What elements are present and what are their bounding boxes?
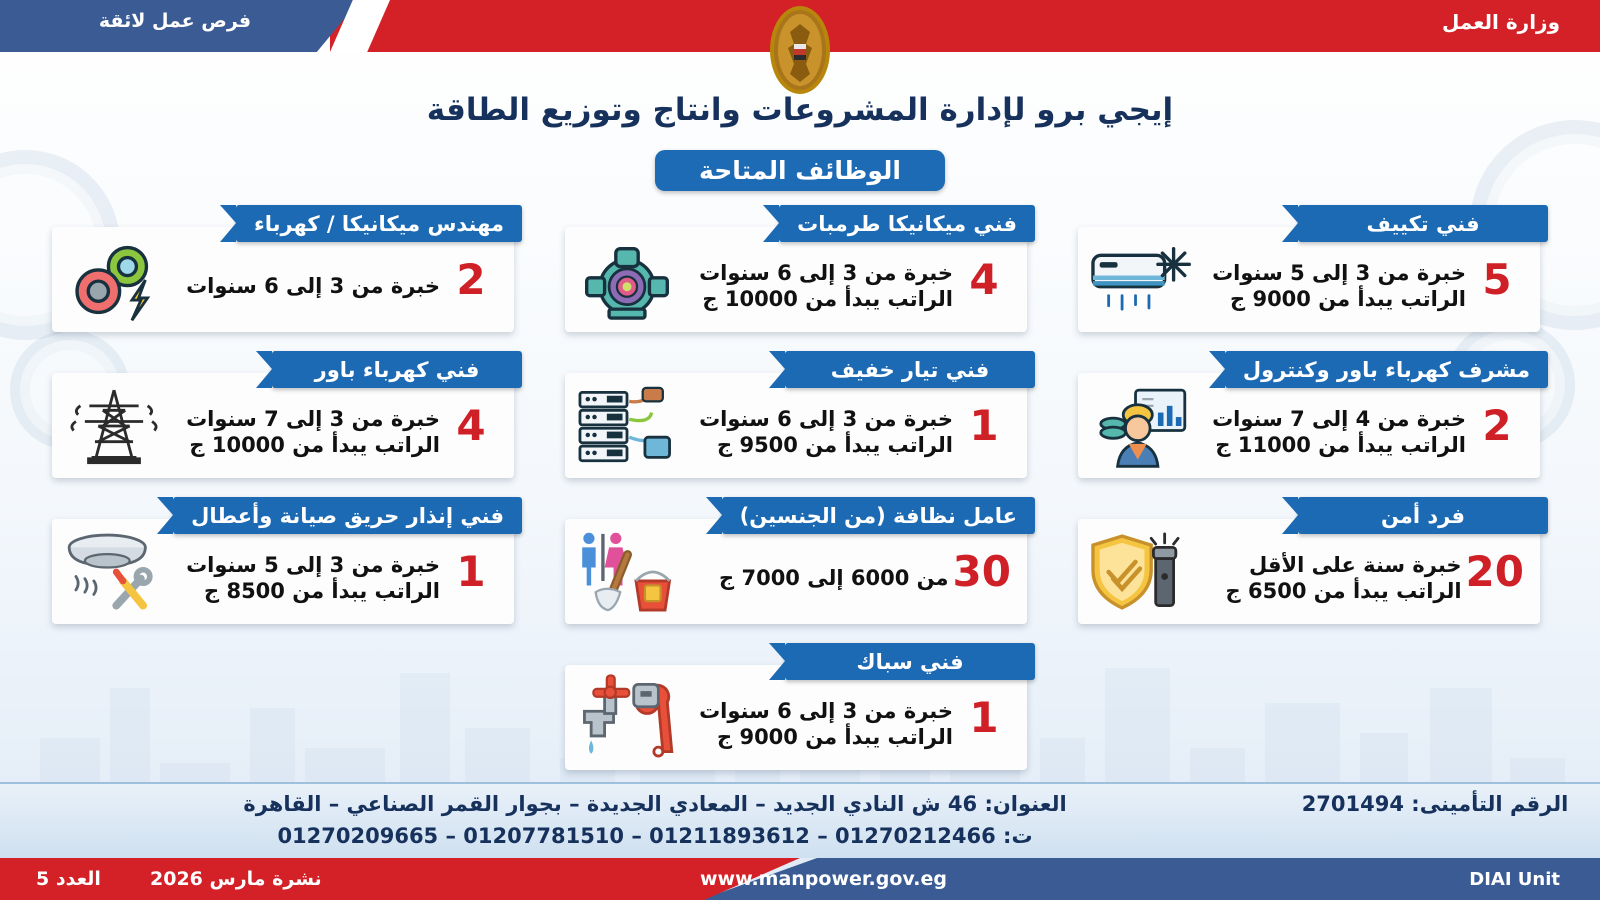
job-card[interactable]: عامل نظافة (من الجنسين) 30 من 6000 إلى 7… [565, 497, 1035, 627]
job-details: خبرة من 4 إلى 7 سنوات الراتب يبدأ من 110… [1196, 393, 1470, 458]
job-experience-line: من 6000 إلى 7000 ج [683, 566, 949, 592]
job-details: خبرة من 3 إلى 6 سنوات الراتب يبدأ من 950… [683, 393, 957, 458]
supervisor-engineer-icon [1084, 380, 1196, 472]
job-vacancy-count: 1 [444, 551, 498, 593]
contact-footer: العنوان: 46 ش النادي الجديد – المعادي ال… [0, 782, 1600, 858]
job-card[interactable]: فني إنذار حريق صيانة وأعطال 1 خبرة من 3 … [52, 497, 522, 627]
air-conditioner-icon [1084, 234, 1196, 326]
job-vacancy-count: 30 [953, 551, 1011, 593]
header-right-tag: وزارة العمل [1442, 10, 1560, 34]
water-pump-icon [571, 234, 683, 326]
job-vacancy-count: 4 [444, 405, 498, 447]
faucet-wrench-icon [571, 672, 683, 764]
header-left-tag: فرص عمل لائقة [60, 10, 290, 32]
job-details: خبرة من 3 إلى 6 سنوات الراتب يبدأ من 100… [683, 247, 957, 312]
jobs-grid: فني تكييف 5 خبرة من 3 إلى 5 سنوات الراتب… [52, 205, 1548, 789]
job-card-body: 4 خبرة من 3 إلى 6 سنوات الراتب يبدأ من 1… [565, 227, 1027, 332]
job-vacancy-count: 5 [1470, 259, 1524, 301]
issue-number: العدد 5 [36, 868, 101, 890]
job-title-ribbon: مهندس ميكانيكا / كهرباء [236, 205, 522, 242]
job-title-ribbon: فني تيار خفيف [785, 351, 1035, 388]
smoke-detector-tools-icon [58, 526, 170, 618]
job-title-ribbon: مشرف كهرباء باور وكنترول [1225, 351, 1548, 388]
job-salary-line: الراتب يبدأ من 9000 ج [683, 725, 953, 751]
job-card-body: 2 خبرة من 4 إلى 7 سنوات الراتب يبدأ من 1… [1078, 373, 1540, 478]
job-details: خبرة من 3 إلى 5 سنوات الراتب يبدأ من 900… [1196, 247, 1470, 312]
job-title-ribbon: فني تكييف [1298, 205, 1548, 242]
job-card-body: 1 خبرة من 3 إلى 6 سنوات الراتب يبدأ من 9… [565, 665, 1027, 770]
job-title-ribbon: فني سباك [785, 643, 1035, 680]
job-title-ribbon: فني إنذار حريق صيانة وأعطال [173, 497, 522, 534]
job-details: خبرة من 3 إلى 6 سنوات [170, 260, 444, 300]
bottom-bar: العدد 5 نشرة مارس 2026 www.manpower.gov.… [0, 858, 1600, 900]
jobs-row: مشرف كهرباء باور وكنترول 2 خبرة من 4 إلى… [52, 351, 1548, 481]
jobs-row: فني تكييف 5 خبرة من 3 إلى 5 سنوات الراتب… [52, 205, 1548, 335]
job-salary-line: الراتب يبدأ من 6500 ج [1196, 579, 1462, 605]
job-experience-line: خبرة من 4 إلى 7 سنوات [1196, 407, 1466, 433]
contact-phones: ت: 01270212466 – 01211893612 – 012077815… [0, 824, 1310, 848]
job-experience-line: خبرة من 3 إلى 5 سنوات [1196, 261, 1466, 287]
job-vacancy-count: 20 [1466, 551, 1524, 593]
job-card[interactable]: فني سباك 1 خبرة من 3 إلى 6 سنوات الراتب … [565, 643, 1035, 773]
job-card-body: 30 من 6000 إلى 7000 ج [565, 519, 1027, 624]
job-details: من 6000 إلى 7000 ج [683, 552, 953, 592]
job-card-body: 4 خبرة من 3 إلى 7 سنوات الراتب يبدأ من 1… [52, 373, 514, 478]
server-rack-icon [571, 380, 683, 472]
job-card-body: 1 خبرة من 3 إلى 5 سنوات الراتب يبدأ من 8… [52, 519, 514, 624]
job-vacancy-count: 2 [444, 259, 498, 301]
bottom-red-band [0, 858, 800, 900]
job-salary-line: الراتب يبدأ من 11000 ج [1196, 433, 1466, 459]
job-title-ribbon: فرد أمن [1298, 497, 1548, 534]
job-details: خبرة سنة على الأقل الراتب يبدأ من 6500 ج [1196, 539, 1466, 604]
job-title-ribbon: عامل نظافة (من الجنسين) [722, 497, 1035, 534]
job-experience-line: خبرة من 3 إلى 6 سنوات [683, 261, 953, 287]
job-card[interactable]: فني ميكانيكا طرمبات 4 خبرة من 3 إلى 6 سن… [565, 205, 1035, 335]
job-experience-line: خبرة سنة على الأقل [1196, 553, 1462, 579]
job-card-body: 2 خبرة من 3 إلى 6 سنوات [52, 227, 514, 332]
job-title-ribbon: فني كهرباء باور [272, 351, 522, 388]
job-salary-line: الراتب يبدأ من 8500 ج [170, 579, 440, 605]
job-experience-line: خبرة من 3 إلى 6 سنوات [170, 274, 440, 300]
job-salary-line: الراتب يبدأ من 9000 ج [1196, 287, 1466, 313]
job-card-body: 5 خبرة من 3 إلى 5 سنوات الراتب يبدأ من 9… [1078, 227, 1540, 332]
job-vacancy-count: 2 [1470, 405, 1524, 447]
contact-address: العنوان: 46 ش النادي الجديد – المعادي ال… [0, 792, 1310, 816]
job-title-ribbon: فني ميكانيكا طرمبات [779, 205, 1035, 242]
job-details: خبرة من 3 إلى 5 سنوات الراتب يبدأ من 850… [170, 539, 444, 604]
job-card[interactable]: مشرف كهرباء باور وكنترول 2 خبرة من 4 إلى… [1078, 351, 1548, 481]
power-pylon-icon [58, 380, 170, 472]
available-jobs-banner: الوظائف المتاحة [655, 150, 945, 191]
bulletin-date: نشرة مارس 2026 [150, 868, 322, 890]
job-card[interactable]: فني كهرباء باور 4 خبرة من 3 إلى 7 سنوات … [52, 351, 522, 481]
job-salary-line: الراتب يبدأ من 10000 ج [683, 287, 953, 313]
job-details: خبرة من 3 إلى 6 سنوات الراتب يبدأ من 900… [683, 685, 957, 750]
job-card[interactable]: فرد أمن 20 خبرة سنة على الأقل الراتب يبد… [1078, 497, 1548, 627]
job-card[interactable]: فني تيار خفيف 1 خبرة من 3 إلى 6 سنوات ال… [565, 351, 1035, 481]
website-link[interactable]: www.manpower.gov.eg [700, 868, 947, 890]
header-red-band [330, 0, 1600, 52]
job-salary-line: الراتب يبدأ من 10000 ج [170, 433, 440, 459]
shield-flashlight-icon [1084, 526, 1196, 618]
job-salary-line: الراتب يبدأ من 9500 ج [683, 433, 953, 459]
egypt-eagle-emblem-icon [763, 4, 837, 96]
job-card-body: 20 خبرة سنة على الأقل الراتب يبدأ من 650… [1078, 519, 1540, 624]
gears-bolt-icon [58, 234, 170, 326]
job-experience-line: خبرة من 3 إلى 6 سنوات [683, 699, 953, 725]
page-title: إيجي برو لإدارة المشروعات وانتاج وتوزيع … [0, 92, 1600, 128]
job-vacancy-count: 1 [957, 697, 1011, 739]
job-card[interactable]: فني تكييف 5 خبرة من 3 إلى 5 سنوات الراتب… [1078, 205, 1548, 335]
subtitle-container: الوظائف المتاحة [0, 150, 1600, 191]
job-details: خبرة من 3 إلى 7 سنوات الراتب يبدأ من 100… [170, 393, 444, 458]
job-experience-line: خبرة من 3 إلى 5 سنوات [170, 553, 440, 579]
jobs-row: فرد أمن 20 خبرة سنة على الأقل الراتب يبد… [52, 497, 1548, 627]
insurance-number: الرقم التأمينى: 2701494 [1300, 792, 1570, 816]
unit-label: DIAI Unit [1469, 869, 1560, 890]
job-vacancy-count: 4 [957, 259, 1011, 301]
cleaning-mop-bucket-icon [571, 526, 683, 618]
job-card-body: 1 خبرة من 3 إلى 6 سنوات الراتب يبدأ من 9… [565, 373, 1027, 478]
jobs-row: فني سباك 1 خبرة من 3 إلى 6 سنوات الراتب … [52, 643, 1548, 773]
job-card[interactable]: مهندس ميكانيكا / كهرباء 2 خبرة من 3 إلى … [52, 205, 522, 335]
job-experience-line: خبرة من 3 إلى 6 سنوات [683, 407, 953, 433]
job-vacancy-count: 1 [957, 405, 1011, 447]
job-experience-line: خبرة من 3 إلى 7 سنوات [170, 407, 440, 433]
